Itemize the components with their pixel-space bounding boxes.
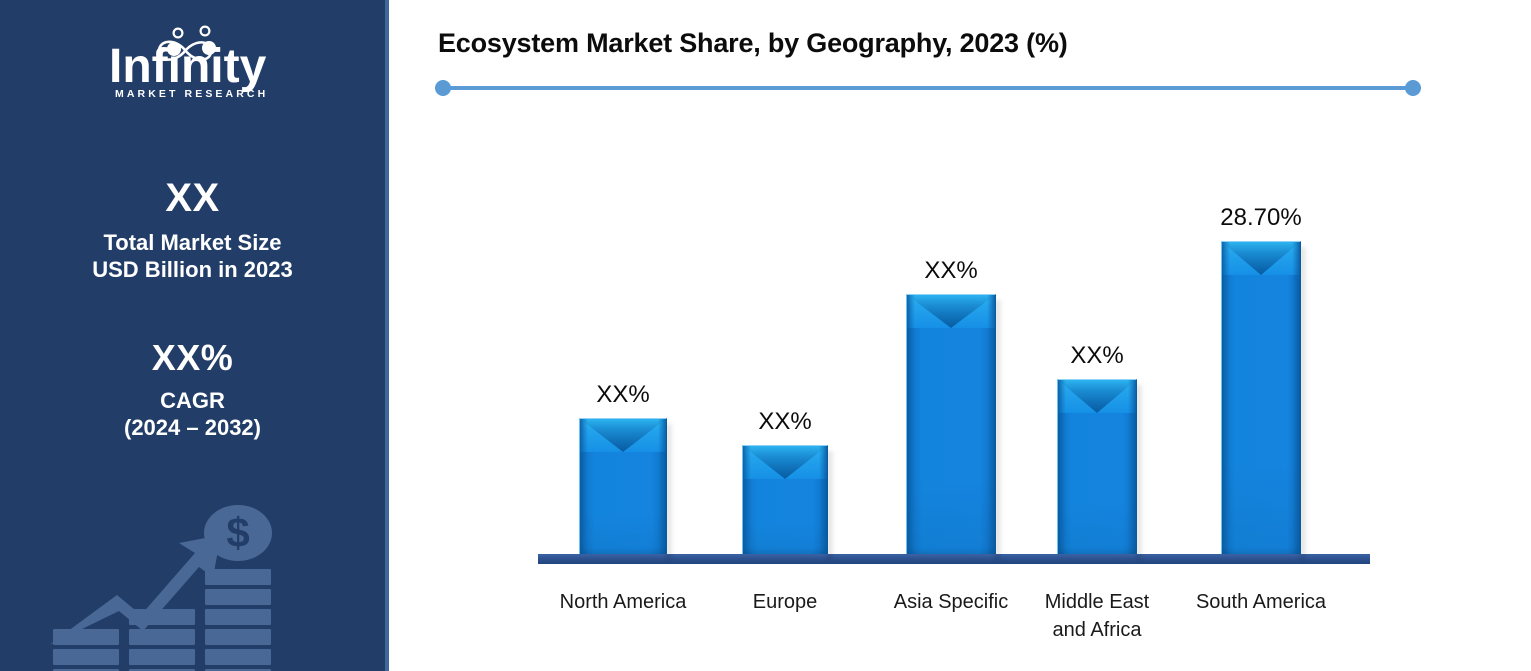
bar-shadow [1300,247,1308,560]
market-size-value: XX [0,178,385,218]
sidebar-panel: Infinity MARKET RESEARCH XX Total Market… [0,0,385,671]
market-size-label-line1: Total Market Size [0,230,385,257]
bar-shadow [995,300,1003,560]
divider-start-dot [435,80,451,96]
bar-south-america[interactable] [1221,241,1301,554]
bar-rim [579,418,667,554]
bar-body [1221,241,1301,554]
bar-shadow [1136,385,1144,560]
market-size-stat: XX Total Market Size USD Billion in 2023 [0,178,385,284]
category-label: North America [548,588,698,616]
svg-text:$: $ [226,509,249,556]
category-label: Europe [710,588,860,616]
bar-middle-east-and-africa[interactable] [1057,379,1137,554]
logo-tagline: MARKET RESEARCH [115,88,268,100]
category-label: Asia Specific [876,588,1026,616]
bar-value-label: XX% [705,408,865,436]
page-title: Ecosystem Market Share, by Geography, 20… [438,28,1068,59]
market-size-label-line2: USD Billion in 2023 [0,257,385,284]
chart-baseline [538,554,1370,564]
bar-body [579,418,667,554]
bar-rim [1057,379,1137,554]
bar-europe[interactable] [742,445,828,554]
bar-rim [742,445,828,554]
logo-wordmark: Infinity [109,40,267,93]
bar-value-label: 28.70% [1181,204,1341,232]
cagr-period-label: (2024 – 2032) [0,415,385,442]
growth-chart-dollar-icon: $ [45,491,345,671]
bar-chart-plot-area: XX%XX%XX%XX%28.70% North AmericaEuropeAs… [389,110,1531,580]
bar-body [1057,379,1137,554]
category-label: Middle Eastand Africa [1022,588,1172,645]
cagr-value: XX% [0,340,385,376]
chart-panel: Ecosystem Market Share, by Geography, 20… [389,0,1531,671]
title-divider [433,76,1423,100]
company-logo: Infinity MARKET RESEARCH [0,22,385,104]
bar-rim [906,294,996,554]
cagr-stat: XX% CAGR (2024 – 2032) [0,340,385,442]
category-label: South America [1186,588,1336,616]
infographic-page: Infinity MARKET RESEARCH XX Total Market… [0,0,1531,671]
divider-end-dot [1405,80,1421,96]
bar-value-label: XX% [871,257,1031,285]
bar-body [742,445,828,554]
bar-value-label: XX% [543,381,703,409]
bar-body [906,294,996,554]
bar-shadow [666,424,674,560]
bar-asia-specific[interactable] [906,294,996,554]
infinity-people-icon: Infinity MARKET RESEARCH [93,24,293,102]
bar-shadow [827,451,835,560]
bar-rim [1221,241,1301,554]
bar-north-america[interactable] [579,418,667,554]
cagr-label-line1: CAGR [0,388,385,415]
bar-value-label: XX% [1017,342,1177,370]
